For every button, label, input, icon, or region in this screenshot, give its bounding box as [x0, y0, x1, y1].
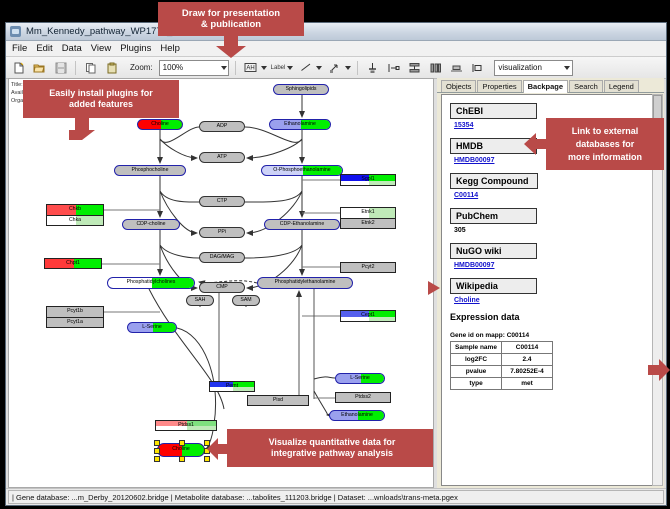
gene-chka[interactable]: Chka	[46, 215, 104, 226]
table-value: 2.4	[502, 354, 553, 366]
title-bar: Mm_Kennedy_pathway_WP1771_45176.gpml	[6, 23, 666, 41]
node-phosphatidylcholines[interactable]: Phosphatidylcholines	[107, 277, 195, 289]
node-cdp-ethanolamine[interactable]: CDP-Ethanolamine	[264, 219, 340, 230]
tab-legend[interactable]: Legend	[604, 80, 639, 92]
node-ethanolamine[interactable]: Ethanolamine	[269, 119, 331, 130]
node-label: L-Serine	[350, 376, 370, 381]
node-label: Pisd	[273, 398, 283, 403]
databases-callout-arrow-2	[428, 281, 440, 300]
toolbar-separator	[75, 61, 76, 75]
node-label: Pcyt1b	[67, 309, 83, 314]
section-header-chebi: ChEBI	[450, 103, 537, 119]
application-window: Mm_Kennedy_pathway_WP1771_45176.gpml Fil…	[5, 22, 667, 506]
node-label: ATP	[217, 155, 227, 160]
callout-line: & publication	[201, 19, 261, 30]
node-label: Ethanolamine	[284, 122, 316, 127]
status-bar: | Gene database: ...m_Derby_20120602.bri…	[6, 488, 666, 505]
node-label: Sgpl1	[361, 177, 374, 182]
section-header-kegg: Kegg Compound	[450, 173, 538, 189]
node-choline-top[interactable]: Choline	[137, 119, 183, 130]
screenshot-root: Mm_Kennedy_pathway_WP1771_45176.gpml Fil…	[0, 0, 670, 509]
node-label: Phosphocholine	[132, 168, 169, 173]
node-label: Chka	[69, 218, 81, 223]
anchor-dropdown[interactable]	[326, 59, 351, 76]
svg-text:AH: AH	[246, 66, 254, 72]
callout-line: Link to external	[572, 125, 639, 138]
node-label: Choline	[151, 122, 169, 127]
node-label: CTP	[217, 199, 227, 204]
chevron-down-icon	[316, 66, 322, 70]
table-key: Sample name	[451, 342, 502, 354]
link-nugo[interactable]: HMDB00097	[454, 262, 653, 269]
node-l-serine-left[interactable]: L-Serine	[127, 322, 177, 333]
callout-line: Draw for presentation	[182, 8, 280, 19]
menu-item-plugins[interactable]: Plugins	[120, 43, 151, 54]
toolbar: Zoom: 100% AH Label	[6, 57, 666, 79]
node-label: Pcyt2	[362, 265, 375, 270]
visualization-combobox[interactable]: visualization	[494, 60, 573, 76]
menu-item-edit[interactable]: Edit	[36, 43, 52, 54]
selection-handle-sw[interactable]	[154, 456, 160, 462]
node-label: Ptdss2	[355, 395, 371, 400]
chevron-down-icon	[261, 66, 267, 70]
gene-ptdss2[interactable]: Ptdss2	[335, 392, 391, 403]
databases-callout: Link to external databases for more info…	[546, 118, 664, 170]
node-label: SAM	[240, 298, 251, 303]
gene-sgpl1[interactable]: Sgpl1	[340, 174, 396, 186]
copy-icon[interactable]	[82, 59, 99, 76]
node-atp[interactable]: ATP	[199, 152, 245, 163]
selection-handle-s[interactable]	[179, 456, 185, 462]
expression-table: Sample name C00114 log2FC 2.4 pvalue 7.8…	[450, 341, 553, 390]
node-label: PPi	[218, 230, 226, 235]
zoom-value: 100%	[163, 63, 183, 72]
node-label: DAG/MAG	[210, 255, 235, 260]
node-label: Pemt	[226, 384, 238, 389]
node-dag-mag[interactable]: DAG/MAG	[199, 252, 245, 263]
node-label: Chkb	[69, 207, 81, 212]
align-top-icon[interactable]	[364, 59, 381, 76]
expression-data-title: Expression data	[450, 312, 653, 322]
menu-item-file[interactable]: File	[12, 43, 27, 54]
gene-chpt1[interactable]: Chpt1	[44, 258, 102, 269]
tab-backpage[interactable]: Backpage	[523, 80, 568, 93]
node-label: Etnk2	[361, 221, 374, 226]
label-dropdown[interactable]: Label	[271, 65, 294, 71]
table-key: type	[451, 378, 502, 390]
status-text: | Gene database: ...m_Derby_20120602.bri…	[8, 490, 664, 504]
node-label: SAH	[195, 298, 206, 303]
node-l-serine-right[interactable]: L-Serine	[335, 373, 385, 384]
gene-pemt[interactable]: Pemt	[209, 381, 255, 392]
chevron-down-icon	[221, 66, 227, 70]
callout-line: added features	[69, 99, 133, 110]
node-ctp[interactable]: CTP	[199, 196, 245, 207]
stack-vertical-icon[interactable]	[406, 59, 423, 76]
stack-horizontal-icon[interactable]	[427, 59, 444, 76]
node-phosphatidylethanolamine[interactable]: Phosphatidylethanolamine	[257, 277, 353, 289]
menu-bar: File Edit Data View Plugins Help	[6, 41, 666, 57]
draw-callout: Draw for presentation & publication	[158, 2, 304, 36]
node-label: CDP-Ethanolamine	[280, 222, 324, 227]
table-value: met	[502, 378, 553, 390]
section-header-wikipedia: Wikipedia	[450, 278, 537, 294]
plugins-callout: Easily install plugins for added feature…	[23, 80, 179, 118]
node-label: Phosphatidylethanolamine	[275, 280, 336, 285]
gene-id-line: Gene id on mapp: C00114	[450, 332, 653, 339]
callout-line: integrative pathway analysis	[271, 448, 393, 459]
node-cdp-choline[interactable]: CDP-choline	[122, 219, 180, 230]
node-label: Etnk1	[361, 210, 374, 215]
tab-objects[interactable]: Objects	[441, 80, 476, 92]
menu-item-help[interactable]: Help	[160, 43, 180, 54]
size-width-icon[interactable]	[469, 59, 486, 76]
node-label: ADP	[217, 124, 228, 129]
zoom-label: Zoom:	[130, 63, 153, 72]
gene-etnk1[interactable]: Etnk1	[340, 207, 396, 218]
table-row: Sample name C00114	[451, 342, 553, 354]
open-folder-icon[interactable]	[31, 59, 48, 76]
tab-search[interactable]: Search	[569, 80, 603, 92]
gene-etnk2[interactable]: Etnk2	[340, 218, 396, 229]
section-header-nugo: NuGO wiki	[450, 243, 537, 259]
line-icon[interactable]	[297, 59, 314, 76]
gene-pcyt1b[interactable]: Pcyt1b	[46, 306, 104, 317]
selection-handle-n[interactable]	[179, 440, 185, 446]
table-row: log2FC 2.4	[451, 354, 553, 366]
node-label: Chpt1	[66, 261, 80, 266]
node-label: CDP-choline	[136, 222, 165, 227]
gene-pcyt1a[interactable]: Pcyt1a	[46, 317, 104, 328]
node-label: Ptdss1	[178, 423, 194, 428]
menu-item-data[interactable]: Data	[62, 43, 82, 54]
table-key: log2FC	[451, 354, 502, 366]
callout-line: Easily install plugins for	[49, 88, 153, 99]
node-sphingolipids[interactable]: Sphingolipids	[273, 84, 329, 95]
gene-pisd[interactable]: Pisd	[247, 395, 309, 406]
draw-callout-arrow	[216, 36, 246, 63]
value-pubchem: 305	[454, 227, 653, 234]
chevron-down-icon	[345, 66, 351, 70]
paste-icon[interactable]	[103, 59, 120, 76]
node-label: CMP	[216, 285, 228, 290]
link-kegg[interactable]: C00114	[454, 192, 653, 199]
node-sam[interactable]: SAM	[232, 295, 260, 306]
selection-handle-w[interactable]	[154, 448, 160, 454]
visualize-callout: Visualize quantitative data for integrat…	[227, 429, 434, 467]
table-value: C00114	[502, 342, 553, 354]
table-value: 7.80252E-4	[502, 366, 553, 378]
callout-line: Visualize quantitative data for	[269, 437, 396, 448]
section-header-pubchem: PubChem	[450, 208, 537, 224]
node-phosphocholine[interactable]: Phosphocholine	[114, 165, 186, 176]
tab-properties[interactable]: Properties	[477, 80, 521, 92]
line-dropdown[interactable]	[297, 59, 322, 76]
node-label: Ethanolamine	[341, 413, 373, 418]
node-ppi[interactable]: PPi	[199, 227, 245, 238]
label-tool-icon[interactable]: Label	[271, 65, 286, 71]
gene-cept1[interactable]: Cept1	[340, 310, 396, 322]
save-disk-icon[interactable]	[52, 59, 69, 76]
node-label: Pcyt1a	[67, 320, 83, 325]
node-o-phosphoethanolamine[interactable]: O-Phosphoethanolamine	[261, 165, 343, 176]
node-cmp[interactable]: CMP	[199, 282, 245, 293]
gene-ptdss1[interactable]: Ptdss1	[155, 420, 217, 431]
link-wikipedia[interactable]: Choline	[454, 297, 653, 304]
table-row: type met	[451, 378, 553, 390]
gene-chkb[interactable]: Chkb	[46, 204, 104, 215]
toolbar-separator	[357, 61, 358, 75]
side-panel-tabs: Objects Properties Backpage Search Legen…	[437, 78, 664, 93]
databases-callout-arrow	[524, 132, 548, 161]
node-label: O-Phosphoethanolamine	[273, 168, 330, 173]
align-left-icon[interactable]	[385, 59, 402, 76]
visualization-value: visualization	[498, 63, 542, 72]
visualize-callout-arrow-right	[648, 358, 670, 387]
table-row: pvalue 7.80252E-4	[451, 366, 553, 378]
node-label: Choline	[172, 447, 190, 452]
pathway-canvas[interactable]: Title: Availa Organ	[8, 78, 434, 488]
selection-handle-nw[interactable]	[154, 440, 160, 446]
table-key: pvalue	[451, 366, 502, 378]
callout-line: more information	[568, 151, 642, 164]
node-adp[interactable]: ADP	[199, 121, 245, 132]
size-equal-icon[interactable]	[448, 59, 465, 76]
gene-pcyt2[interactable]: Pcyt2	[340, 262, 396, 273]
node-label: Phosphatidylcholines	[127, 280, 176, 285]
new-file-icon[interactable]	[10, 59, 27, 76]
plugins-callout-arrow	[69, 118, 95, 145]
app-logo-icon	[10, 26, 21, 37]
node-label: L-Serine	[142, 325, 162, 330]
node-sah[interactable]: SAH	[186, 295, 214, 306]
node-label: Sphingolipids	[286, 87, 317, 92]
anchor-icon[interactable]	[326, 59, 343, 76]
visualize-callout-arrow-left	[207, 437, 229, 466]
chevron-down-icon	[564, 66, 570, 70]
chevron-down-icon	[287, 66, 293, 70]
menu-item-view[interactable]: View	[91, 43, 111, 54]
callout-line: databases for	[576, 138, 635, 151]
node-ethanolamine-lower[interactable]: Ethanolamine	[329, 410, 385, 421]
node-label: Cept1	[361, 313, 375, 318]
